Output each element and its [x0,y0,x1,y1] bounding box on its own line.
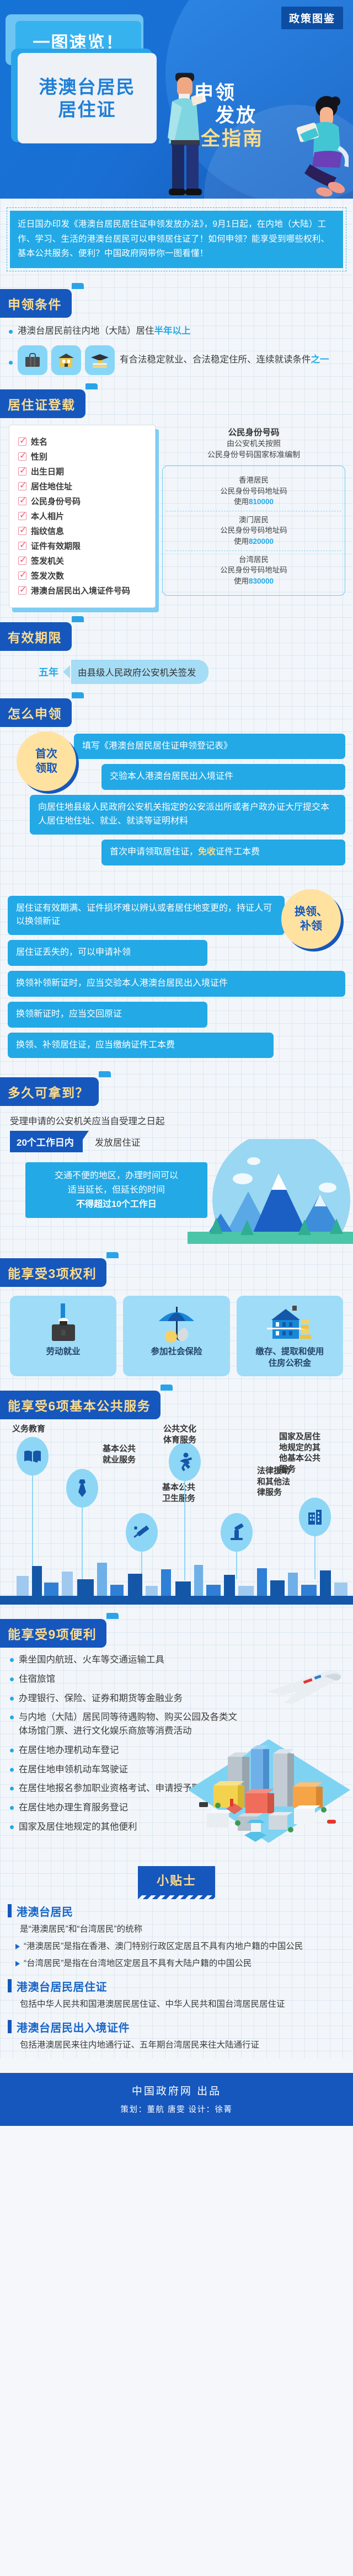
arrow-icon [63,665,70,678]
convenience-text: 在居住地办理生育服务登记 [19,1801,128,1815]
service-label-other-services: 国家及居住 地规定的其 他基本公共 服务 [279,1431,320,1474]
woman-illustration [284,95,349,197]
code-prefix: 使用 [234,498,249,506]
checklist-label: 证件有效期限 [31,540,81,552]
checklist-label: 姓名 [31,436,47,447]
checklist-item: 本人相片 [18,510,148,522]
section-header-howto: 怎么申领 [0,698,72,727]
howlong-ribbon: 20个工作日内 [10,1131,83,1152]
check-icon [18,482,26,490]
brand-badge: 政策图鉴 [281,7,343,29]
tip-desc: 是“港澳居民”和“台湾居民”的统称 [8,1919,344,1936]
hero-word-1: 申领 [194,82,264,104]
section-label-services: 能享受6项基本公共服务 [0,1391,161,1419]
tip-block-travel-document: 港澳台居民出入境证件 包括港澳居民来往内地通行证、五年期台湾居民来往大陆通行证 [0,2011,353,2052]
bullet-dot-icon [10,1715,14,1719]
checklist-item: 证件有效期限 [18,540,148,552]
check-icon [18,557,26,565]
check-icon [18,497,26,505]
checklist-label: 居住地住址 [31,480,72,492]
bottom-spacer [0,2052,353,2059]
howto-first-flow: 首次 领取 填写《港澳台居民居住证申领登记表》 交验本人港澳台居民出入境证件 向… [0,727,353,887]
code-prefix: 使用 [234,537,249,546]
tip-bar-icon [8,1904,12,1917]
section-fold-decoration [85,383,98,389]
howlong-note-1: 交通不便的地区，办理时间可以 [31,1169,202,1183]
bullet-dot-icon [10,1825,14,1829]
convenience-text: 国家及居住地规定的其他便利 [19,1820,137,1834]
section-fold-decoration [72,283,84,289]
renew-step-5: 换领、补领居住证，应当缴纳证件工本费 [8,1033,274,1059]
fee-note-pre: 首次申请领取居住证， [110,847,198,857]
renew-step-4: 换领新证时，应当交回原证 [8,1002,207,1028]
code-desc: 公民身份号码地址码 [166,525,341,536]
code-desc: 公民身份号码地址码 [166,486,341,497]
title-line-1: 港澳台居民 [39,76,136,98]
section-header-howlong: 多久可拿到？ [0,1077,99,1106]
check-icon [18,467,26,475]
buildings-icon [299,1498,331,1536]
check-icon [18,452,26,461]
convenience-text: 办理银行、保险、证券和期货等金融业务 [19,1692,183,1706]
section-header-rights: 能享受3项权利 [0,1258,106,1287]
section-fold-decoration [161,1385,173,1391]
right-label-insurance: 参加社会保险 [127,1346,225,1358]
convenience-text: 乘坐国内航班、火车等交通运输工具 [19,1653,164,1667]
condition-1-highlight: 半年以上 [154,326,191,336]
tip-title: 港澳台居民出入境证件 [17,2019,130,2035]
renew-badge-line-1: 换领、 [295,906,328,918]
check-icon [18,437,26,446]
tip-title-row: 港澳台居民 [8,1903,344,1919]
convenience-text: 住宿旅馆 [19,1672,55,1686]
tip-desc: 包括港澳居民来往内地通行证、五年期台湾居民来往大陆通行证 [8,2035,344,2052]
tip-title: 港澳台居民居住证 [17,1978,107,1994]
necktie-icon [66,1469,98,1508]
house-icon [51,345,81,375]
id-number-desc-2: 公民身份号码国家标准编制 [162,449,345,460]
registration-checklist: 姓名 性别 出生日期 居住地住址 公民身份号码 本人相片 指纹信息 证件有效期限… [9,425,156,608]
section-fold-decoration [106,1613,119,1619]
hero-word-2: 发放 [215,104,264,127]
address-code-box: 香港居民 公民身份号码地址码 使用810000 澳门居民 公民身份号码地址码 使… [162,466,345,596]
checklist-item: 港澳台居民出入境证件号码 [18,585,148,596]
bullet-dot-icon [10,1677,14,1681]
runner-icon [169,1442,201,1481]
checklist-label: 性别 [31,451,47,462]
section-label-registration: 居住证登载 [0,389,85,418]
bullet-dot-icon [10,1787,14,1791]
tip-title-row: 港澳台居民居住证 [8,1978,344,1994]
hero-banner: 政策图鉴 一图速览！ 港澳台居民 居住证 [0,0,353,199]
code-desc: 公民身份号码地址码 [166,565,341,576]
checklist-label: 签发次数 [31,570,64,581]
body-content: 近日国办印发《港澳台居民居住证申领发放办法》，9月1日起，在内地（大陆）工作、学… [0,199,353,2059]
checklist-item: 姓名 [18,436,148,447]
syringe-icon [126,1513,158,1552]
check-icon [18,571,26,580]
mountain-illustration [188,1139,353,1244]
conveniences-section: 乘坐国内航班、火车等交通运输工具 住宿旅馆 办理银行、保险、证券和期货等金融业务… [0,1648,353,1851]
footer-credits: 策划：董航 唐雯 设计：徐菁 [0,2103,353,2115]
section-label-howto: 怎么申领 [0,698,72,727]
checklist-label: 公民身份号码 [31,495,81,507]
tip-bullet: “港澳居民”是指在香港、澳门特别行政区定居且不具有内地户籍的中国公民 [8,1936,344,1953]
code-region: 澳门居民 [166,515,341,526]
infographic-page: 政策图鉴 一图速览！ 港澳台居民 居住证 [0,0,353,2126]
section-label-conveniences: 能享受9项便利 [0,1619,106,1648]
right-card-employment: 劳动就业 [10,1296,116,1376]
code-value: 810000 [249,498,274,506]
checklist-item: 居住地住址 [18,480,148,492]
renew-step-3: 换领补领新证时，应当交验本人港澳台居民出入境证件 [8,971,345,997]
city-skyline-illustration [0,1554,353,1605]
section-header-registration: 居住证登载 [0,389,85,418]
section-header-conveniences: 能享受9项便利 [0,1619,106,1648]
convenience-item: 住宿旅馆 [0,1667,237,1686]
bullet-dot-icon [10,1697,14,1701]
tip-title: 港澳台居民 [17,1903,73,1919]
checklist-label: 港澳台居民出入境证件号码 [31,585,130,596]
checklist-label: 指纹信息 [31,525,64,537]
checklist-label: 本人相片 [31,510,64,522]
checklist-label: 出生日期 [31,466,64,477]
briefcase-hand-icon [14,1303,112,1343]
bullet-dot-icon [10,1658,14,1662]
howlong-line-1: 受理申请的公安机关应当自受理之日起 [10,1114,353,1127]
hero-word-3: 全指南 [201,127,264,150]
right-card-housing-fund: 缴存、提取和使用 住房公积金 [237,1296,343,1376]
validity-row: 五年 由县级人民政府公安机关签发 [0,651,353,684]
registration-checklist-wrap: 姓名 性别 出生日期 居住地住址 公民身份号码 本人相片 指纹信息 证件有效期限… [9,425,156,608]
title-card: 港澳台居民 居住证 [18,53,157,143]
code-region: 香港居民 [166,475,341,486]
checklist-item: 公民身份号码 [18,495,148,507]
triangle-icon [15,1961,20,1966]
intro-section: 近日国办印发《港澳台居民居住证申领发放办法》，9月1日起，在内地（大陆）工作、学… [0,199,353,275]
checklist-label: 签发机关 [31,555,64,566]
check-icon [18,586,26,595]
fee-note-highlight: 免收 [198,847,216,857]
service-label-compulsory-education: 义务教育 [12,1424,45,1435]
howto-renew-flow: 换领、 补领 居住证有效期满、证件损坏难以辨认或者居住地变更的，持证人可以换领新… [0,889,353,1059]
condition-2-text: 有合法稳定就业、合法稳定住所、连续就读条件 [120,355,311,365]
tips-header: 小贴士 [0,1866,353,1895]
address-code-row: 香港居民 公民身份号码地址码 使用810000 [166,472,341,511]
footer-producer: 中国政府网 出品 [0,2083,353,2098]
first-fee-note: 首次申请领取居住证，免收证件工本费 [101,840,345,865]
house-coins-icon [241,1303,339,1343]
id-number-desc-1: 由公安机关按照 [162,438,345,449]
tip-bullet-text: “港澳居民”是指在香港、澳门特别行政区定居且不具有内地户籍的中国公民 [24,1940,303,1953]
address-code-row: 澳门居民 公民身份号码地址码 使用820000 [166,511,341,551]
first-step-1: 填写《港澳台居民居住证申领登记表》 [74,734,345,760]
bullet-dot-icon [9,330,13,334]
section-label-validity: 有效期限 [0,622,72,651]
tip-bullet-text: “台湾居民”是指在台湾地区定居且不具有大陆户籍的中国公民 [24,1957,252,1970]
graduation-books-icon [85,345,115,375]
tip-bar-icon [8,1979,12,1992]
first-step-2: 交验本人港澳台居民出入境证件 [101,764,345,790]
right-card-insurance: 参加社会保险 [123,1296,229,1376]
open-book-icon [17,1437,49,1476]
code-prefix: 使用 [234,577,249,585]
fee-note-post: 证件工本费 [216,847,260,857]
right-label-housing-fund: 缴存、提取和使用 住房公积金 [241,1346,339,1370]
right-label-line-1: 缴存、提取和使用 [255,1347,324,1356]
section-fold-decoration [72,692,84,698]
checklist-item: 出生日期 [18,466,148,477]
intro-text: 近日国办印发《港澳台居民居住证申领发放办法》，9月1日起，在内地（大陆）工作、学… [10,211,343,268]
triangle-icon [15,1944,20,1949]
bullet-dot-icon [10,1768,14,1772]
renew-step-1: 居住证有效期满、证件损坏难以辨认或者居住地变更的，持证人可以换领新证 [8,896,285,936]
first-badge-line-1: 首次 [35,748,57,760]
briefcase-icon [18,345,47,375]
checklist-item: 性别 [18,451,148,462]
bullet-dot-icon [9,361,13,365]
id-number-title: 公民身份号码 [162,426,345,438]
service-label-employment-service: 基本公共 就业服务 [103,1444,136,1465]
validity-years: 五年 [39,665,58,679]
id-number-column: 公民身份号码 由公安机关按照 公民身份号码国家标准编制 香港居民 公民身份号码地… [162,425,345,608]
section-label-rights: 能享受3项权利 [0,1258,106,1287]
code-value: 830000 [249,577,274,585]
services-section: 义务教育 基本公共 就业服务 基本公共 [0,1423,353,1605]
registration-section: 姓名 性别 出生日期 居住地住址 公民身份号码 本人相片 指纹信息 证件有效期限… [0,418,353,608]
right-label-employment: 劳动就业 [14,1346,112,1358]
umbrella-coin-icon [127,1303,225,1343]
convenience-item: 乘坐国内航班、火车等交通运输工具 [0,1648,237,1667]
check-icon [18,512,26,520]
code-value: 820000 [249,537,274,546]
service-label-culture-sports: 公共文化 体育服务 [163,1424,196,1445]
checklist-item: 签发次数 [18,570,148,581]
gavel-icon [221,1513,253,1552]
howlong-section: 受理申请的公安机关应当自受理之日起 20个工作日内 发放居住证 交通不便的地区，… [0,1106,353,1244]
hero-words: 申领 发放 全指南 [194,82,264,150]
isometric-city-illustration [185,1733,353,1854]
section-fold-decoration [99,1071,111,1077]
address-code-row: 台湾居民 公民身份号码地址码 使用830000 [166,551,341,590]
intro-dashed-border: 近日国办印发《港澳台居民居住证申领发放办法》，9月1日起，在内地（大陆）工作、学… [7,207,346,271]
condition-2-highlight: 之一 [311,355,329,365]
right-label-line-2: 住房公积金 [269,1359,312,1368]
bullet-dot-icon [10,1806,14,1810]
condition-1-text: 港澳台居民前往内地（大陆）居住 [18,326,154,336]
section-header-validity: 有效期限 [0,622,72,651]
section-header-services: 能享受6项基本公共服务 [0,1391,161,1419]
tip-bullet: “台湾居民”是指在台湾地区定居且不具有大陆户籍的中国公民 [8,1953,344,1970]
tips-badge: 小贴士 [138,1866,215,1895]
first-step-3: 向居住地县级人民政府公安机关指定的公安派出所或者户政办证大厅提交本人居住地住址、… [30,795,345,835]
convenience-text: 在居住地办理机动车登记 [19,1744,119,1757]
section-label-conditions: 申领条件 [0,289,72,318]
howlong-note: 交通不便的地区，办理时间可以 适当延长，但延长的时间 不得超过10个工作日 [25,1162,207,1218]
bullet-dot-icon [10,1749,14,1752]
section-fold-decoration [106,1252,119,1258]
first-apply-badge: 首次 领取 [17,731,76,791]
check-icon [18,527,26,535]
title-line-2: 居住证 [58,98,116,121]
airplane-icon [264,1668,346,1707]
tip-title-row: 港澳台居民出入境证件 [8,2019,344,2035]
section-fold-decoration [72,616,84,622]
renew-step-2: 居住证丢失的，可以申请补领 [8,940,207,966]
howlong-note-2: 适当延长，但延长的时间 [31,1183,202,1198]
rights-cards: 劳动就业 参加社会保险 缴存、提取和使用 住房公积金 [0,1287,353,1376]
howlong-suffix: 发放居住证 [95,1135,141,1148]
condition-item-1: 港澳台居民前往内地（大陆）居住半年以上 [0,318,353,339]
checklist-item: 签发机关 [18,555,148,566]
tip-block-permit: 港澳台居民居住证 包括中华人民共和国港澳居民居住证、中华人民共和国台湾居民居住证 [0,1970,353,2011]
condition-item-2: 有合法稳定就业、合法稳定住所、连续就读条件之一 [0,339,353,375]
renew-badge: 换领、 补领 [281,889,341,949]
condition-icons [18,345,115,375]
checklist-item: 指纹信息 [18,525,148,537]
howlong-note-3: 不得超过10个工作日 [31,1198,202,1212]
tip-bar-icon [8,2020,12,2033]
convenience-item: 办理银行、保险、证券和期货等金融业务 [0,1686,237,1706]
tip-block-residents: 港澳台居民 是“港澳居民”和“台湾居民”的统称 “港澳居民”是指在香港、澳门特别… [0,1895,353,1970]
code-region: 台湾居民 [166,554,341,565]
tip-desc: 包括中华人民共和国港澳居民居住证、中华人民共和国台湾居民居住证 [8,1994,344,2011]
section-label-howlong: 多久可拿到？ [0,1077,99,1106]
convenience-text: 在居住地申领机动车驾驶证 [19,1763,128,1777]
validity-issuer: 由县级人民政府公安机关签发 [71,660,208,684]
check-icon [18,542,26,550]
page-footer: 中国政府网 出品 策划：董航 唐雯 设计：徐菁 [0,2073,353,2126]
first-badge-line-2: 领取 [35,762,57,774]
section-header-conditions: 申领条件 [0,289,72,318]
renew-badge-line-2: 补领 [300,920,322,932]
